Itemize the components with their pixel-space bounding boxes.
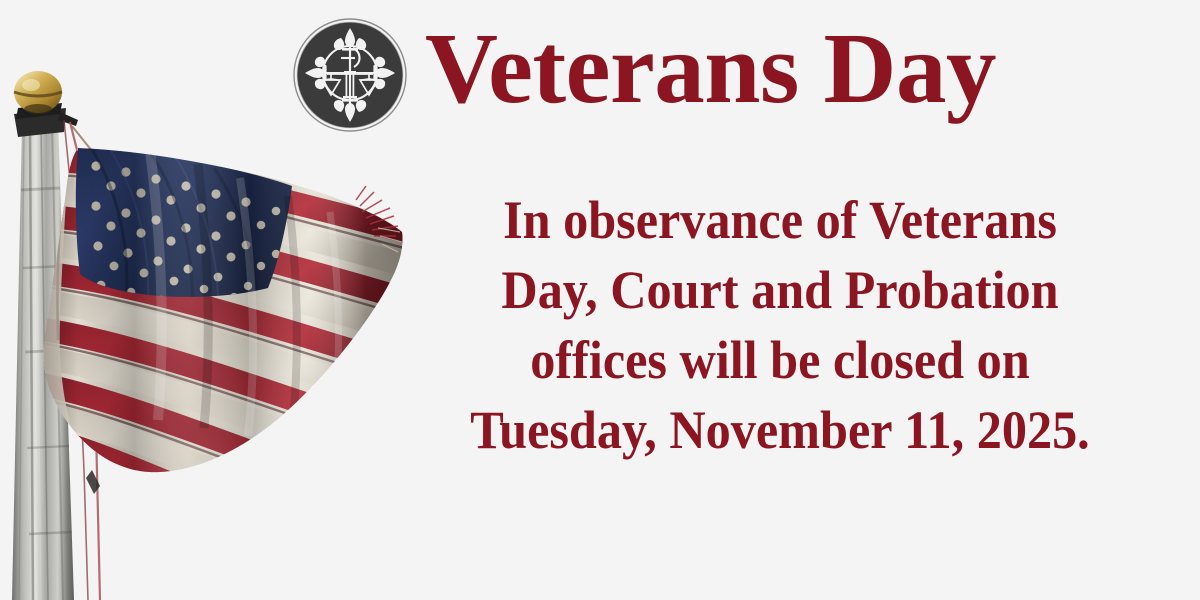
closure-notice-line-2: Day, Court and Probation bbox=[445, 255, 1115, 325]
closure-notice: In observance of Veterans Day, Court and… bbox=[445, 185, 1115, 465]
page-title: Veterans Day bbox=[425, 18, 1125, 119]
closure-notice-line-1: In observance of Veterans bbox=[445, 185, 1115, 255]
closure-notice-line-4: Tuesday, November 11, 2025. bbox=[445, 395, 1115, 465]
veterans-day-banner: Veterans Day In observance of Veterans D… bbox=[0, 0, 1200, 600]
court-seal bbox=[293, 18, 407, 132]
closure-notice-line-3: offices will be closed on bbox=[445, 325, 1115, 395]
